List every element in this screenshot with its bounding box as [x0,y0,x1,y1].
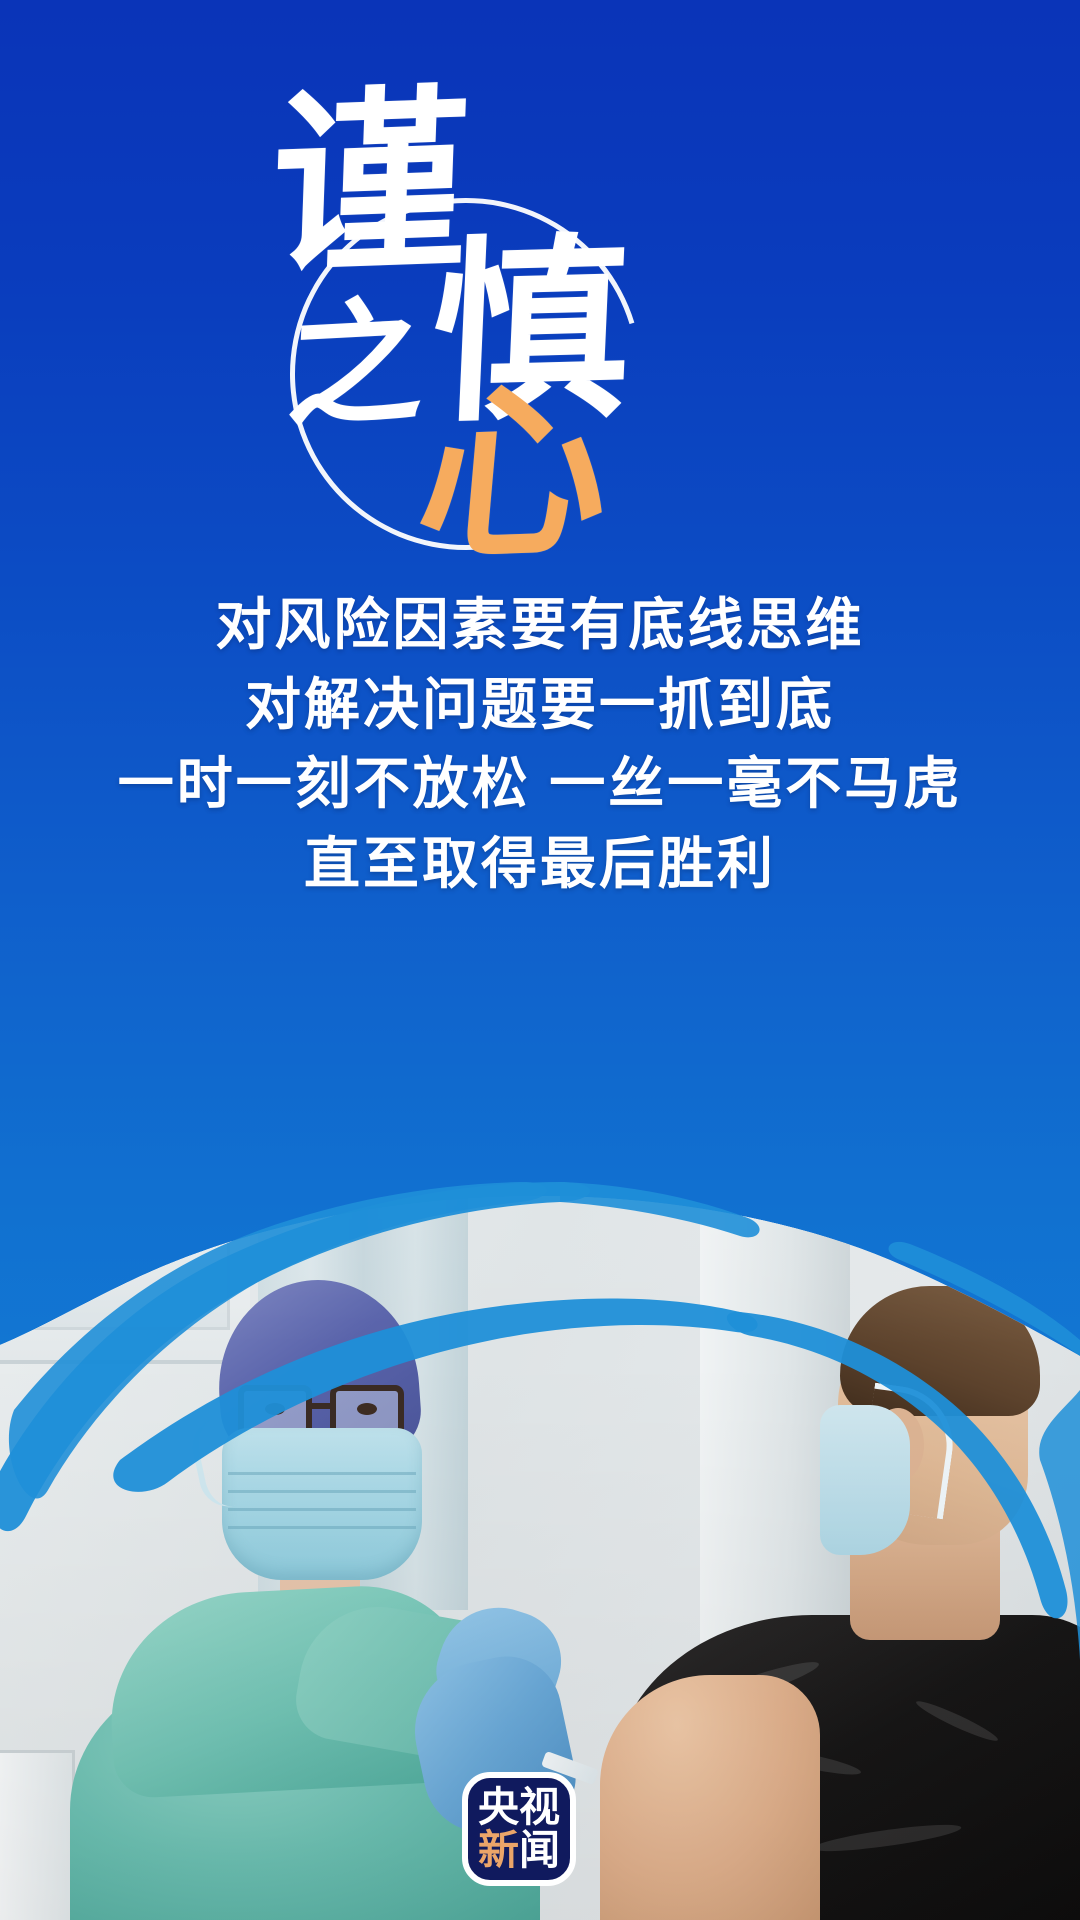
logo-char-wen: 闻 [519,1830,560,1871]
calligraphy-char-zhi: 之 [284,299,427,434]
slogan-block: 对风险因素要有底线思维 对解决问题要一抓到底 一时一刻不放松 一丝一毫不马虎 直… [0,585,1080,903]
title-block: 谨 之 慎 心 [0,70,1080,540]
logo-line-xinwen: 新 闻 [478,1830,560,1871]
slogan-line-3: 一时一刻不放松 一丝一毫不马虎 [0,744,1080,824]
slogan-line-2: 对解决问题要一抓到底 [0,665,1080,745]
poster-root: 谨 之 慎 心 对风险因素要有底线思维 对解决问题要一抓到底 一时一刻不放松 一… [0,0,1080,1920]
logo-char-xin: 新 [478,1830,519,1871]
curtain-rail [250,1170,480,1188]
calligraphy-char-xin: 心 [412,383,616,566]
slogan-line-4: 直至取得最后胜利 [0,824,1080,904]
logo-line-yangshi: 央视 [478,1787,560,1828]
slogan-line-1: 对风险因素要有底线思维 [0,585,1080,665]
cctv-news-logo[interactable]: 央视 新 闻 [462,1772,576,1886]
